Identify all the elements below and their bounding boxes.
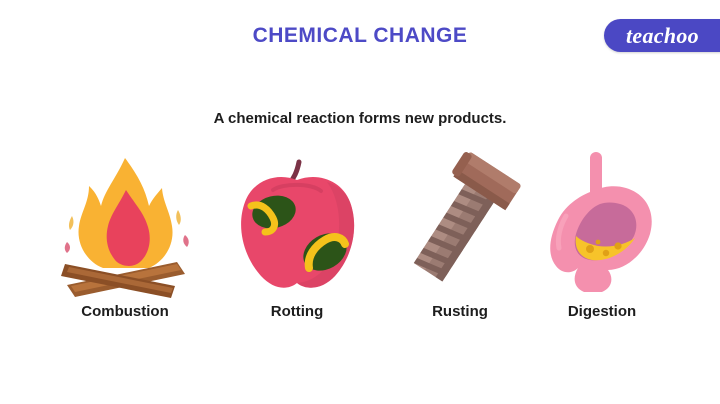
item-rusting: Rusting	[380, 150, 540, 330]
campfire-icon	[45, 150, 205, 300]
item-rotting: Rotting	[217, 150, 377, 330]
brand-name-label: teachoo	[626, 23, 699, 49]
rusty-bolt-icon	[380, 150, 540, 300]
subtitle-text: A chemical reaction forms new products.	[0, 110, 720, 127]
item-label-combustion: Combustion	[45, 303, 205, 320]
rotting-apple-icon	[217, 150, 377, 300]
stomach-icon	[522, 150, 682, 300]
item-label-digestion: Digestion	[522, 303, 682, 320]
item-label-rotting: Rotting	[217, 303, 377, 320]
item-combustion: Combustion	[45, 150, 205, 330]
item-label-rusting: Rusting	[380, 303, 540, 320]
teachoo-logo-badge: teachoo	[604, 19, 720, 52]
item-digestion: Digestion	[522, 150, 682, 330]
